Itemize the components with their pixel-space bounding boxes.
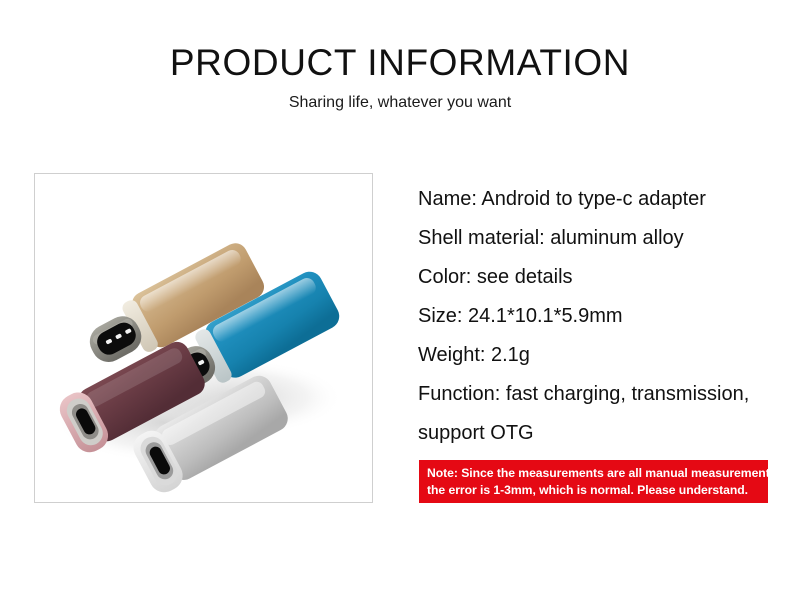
spec-function-continued: support OTG <box>418 414 784 453</box>
product-photo <box>35 174 372 502</box>
spec-name: Name: Android to type-c adapter <box>418 180 784 219</box>
measurement-note-line-1: Note: Since the measurements are all man… <box>427 465 761 482</box>
specification-list: Name: Android to type-c adapter Shell ma… <box>418 180 784 453</box>
spec-color: Color: see details <box>418 258 784 297</box>
page-title: PRODUCT INFORMATION <box>0 42 800 84</box>
measurement-note-line-2: the error is 1-3mm, which is normal. Ple… <box>427 482 761 499</box>
page-subtitle: Sharing life, whatever you want <box>0 84 800 114</box>
spec-weight: Weight: 2.1g <box>418 336 784 375</box>
product-image-frame <box>34 173 373 503</box>
product-information-page: PRODUCT INFORMATION Sharing life, whatev… <box>0 0 800 590</box>
spec-shell-material: Shell material: aluminum alloy <box>418 219 784 258</box>
spec-size: Size: 24.1*10.1*5.9mm <box>418 297 784 336</box>
measurement-note: Note: Since the measurements are all man… <box>419 460 768 503</box>
page-header: PRODUCT INFORMATION Sharing life, whatev… <box>0 42 800 114</box>
spec-function: Function: fast charging, transmission, <box>418 375 784 414</box>
